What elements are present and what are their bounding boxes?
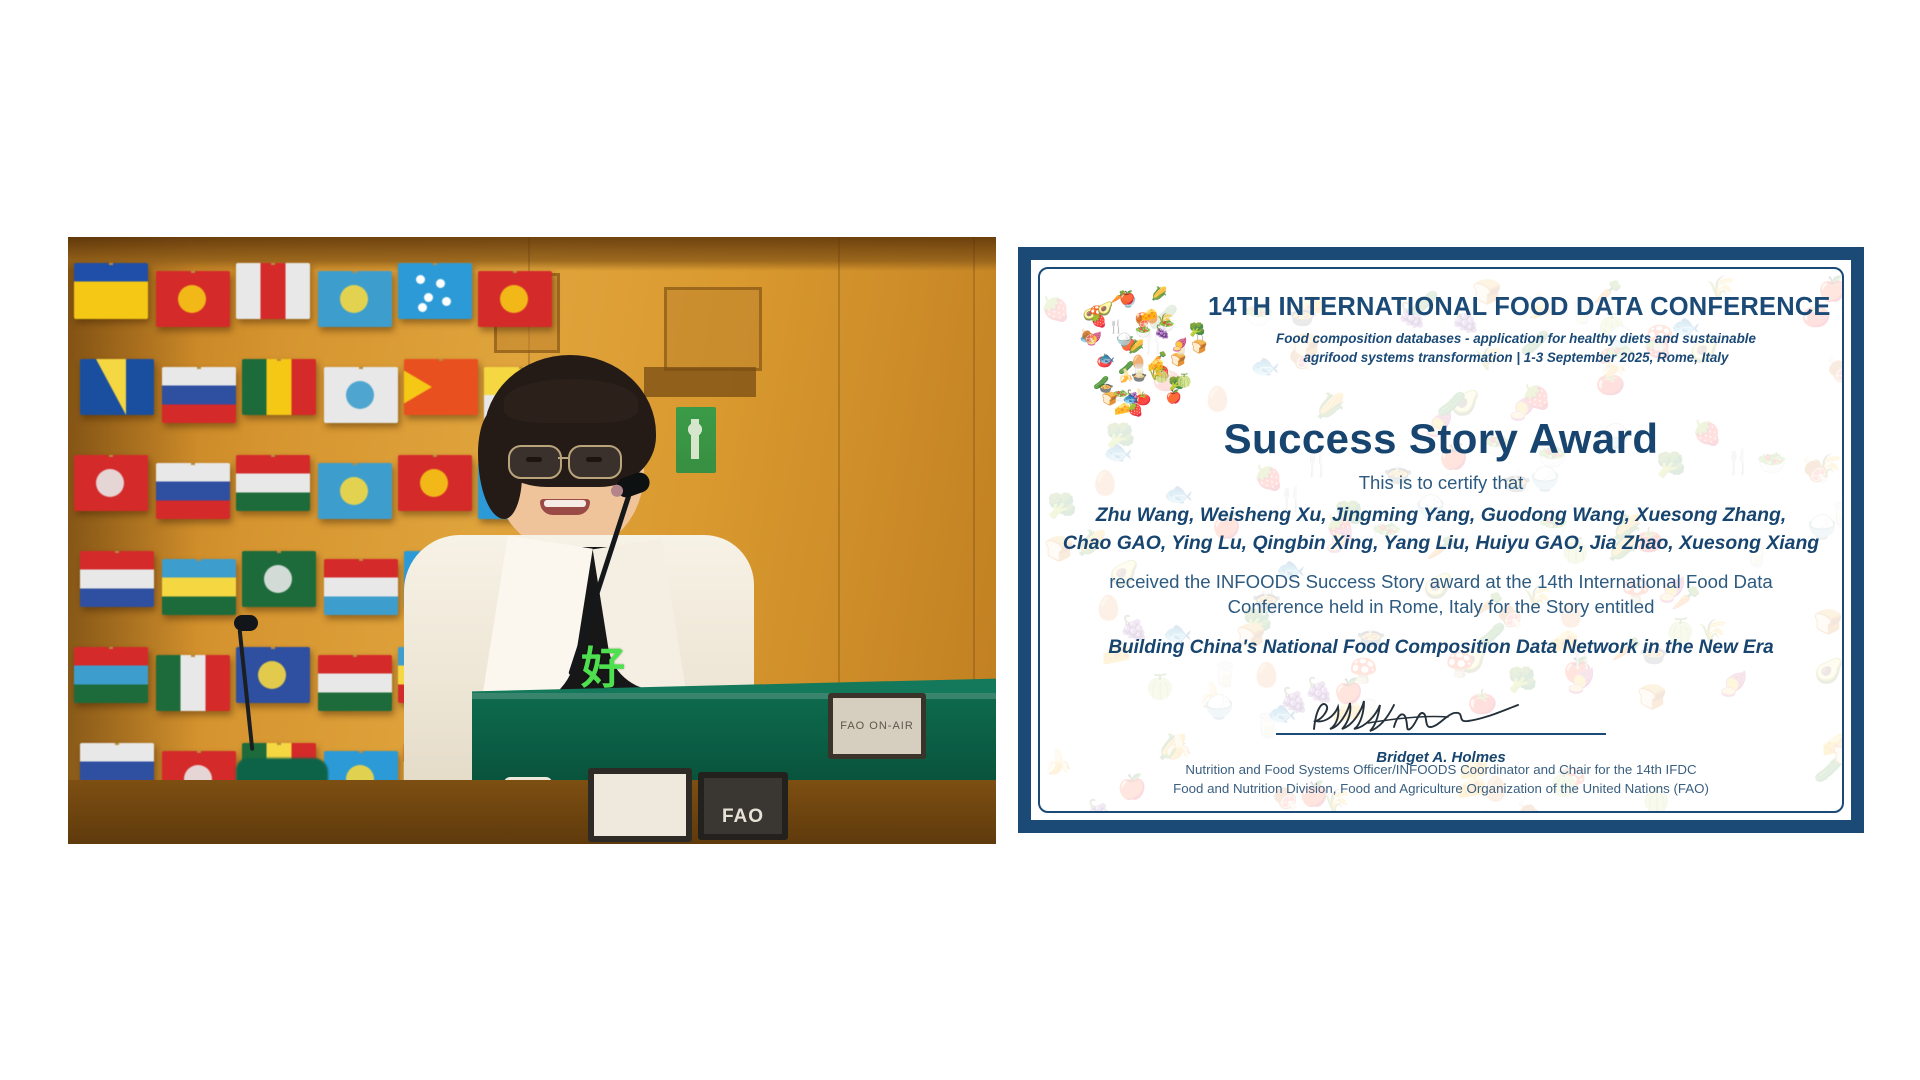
recipient-names-line-1: Zhu Wang, Weisheng Xu, Jingming Yang, Gu… <box>1056 501 1826 529</box>
back-monitor: FAO ON-AIR <box>828 693 926 759</box>
credentials-line-1: Nutrition and Food Systems Officer/INFOO… <box>1068 761 1814 780</box>
conference-photo: 好 FAO ON-AIR FAO <box>68 237 996 844</box>
food-icon: 🥚 <box>1203 385 1233 413</box>
signature-block: Bridget A. Holmes <box>1040 697 1842 766</box>
food-icon: 🍖 <box>1080 329 1096 344</box>
food-icon: 🥑 <box>1450 389 1480 417</box>
nameplate-label: FAO <box>704 806 782 828</box>
food-icon: 🍓 <box>1091 314 1107 329</box>
desk-screen <box>588 768 692 842</box>
food-icon: 🍌 <box>1607 810 1637 813</box>
food-icon: 🥛 <box>1828 501 1844 529</box>
flag-tile <box>162 559 236 615</box>
food-icon: 🍠 <box>1172 338 1188 353</box>
food-icon: 🍄 <box>1349 657 1379 685</box>
food-icon: 🐟 <box>1123 392 1139 407</box>
back-monitor-label: FAO ON-AIR <box>833 698 921 754</box>
conference-subtitle: Food composition databases - application… <box>1208 329 1824 368</box>
credentials-line-2: Food and Nutrition Division, Food and Ag… <box>1068 780 1814 799</box>
food-icon: 🍎 <box>1119 291 1135 306</box>
story-title: Building China's National Food Compositi… <box>1056 637 1826 659</box>
conference-title-block: 14TH INTERNATIONAL FOOD DATA CONFERENCE … <box>1208 293 1824 368</box>
mouth <box>540 499 590 515</box>
flag-tile <box>156 655 230 711</box>
certificate-inner-frame: 🍎🍓🥗🍞🧀🐟🥕🍄🌽🍌🥛🍇🍲🍴🥦🍅🍠🥒🍚🍖🥚🍈🌾🥑🍎🍓🥗🍞🧀🐟🥕🍄🌽🍌🥛🍇🍲🍴🥦🍅… <box>1038 267 1844 813</box>
conference-subtitle-line-1: Food composition databases - application… <box>1208 329 1824 348</box>
food-icon: 🍓 <box>1522 383 1552 411</box>
foreground-desk <box>68 780 996 844</box>
food-icon: 🌽 <box>1473 810 1503 813</box>
flag-tile <box>324 559 398 615</box>
flag-tile <box>318 271 392 327</box>
flag-tile <box>324 367 398 423</box>
food-icon: 🍠 <box>1566 667 1596 695</box>
food-icon: 🥑 <box>1814 657 1844 685</box>
flag-tile <box>156 463 230 519</box>
fringe <box>504 379 638 423</box>
food-icon: 🧀 <box>1141 308 1157 323</box>
award-certificate: 🍎🍓🥗🍞🧀🐟🥕🍄🌽🍌🥛🍇🍲🍴🥦🍅🍠🥒🍚🍖🥚🍈🌾🥑🍎🍓🥗🍞🧀🐟🥕🍄🌽🍌🥛🍇🍲🍴🥦🍅… <box>1018 247 1864 833</box>
award-body-line-1: received the INFOODS Success Story award… <box>1070 569 1812 594</box>
food-icon: 🍞 <box>1813 608 1843 636</box>
food-icon: 🥦 <box>1508 666 1538 694</box>
conference-subtitle-line-2: agrifood systems transformation | 1-3 Se… <box>1208 348 1824 367</box>
flag-tile <box>74 647 148 703</box>
food-icon: 🥛 <box>1131 364 1147 379</box>
flag-tile <box>318 463 392 519</box>
certify-line: This is to certify that <box>1040 472 1842 494</box>
signature-line <box>1276 733 1606 735</box>
food-icon: 🥦 <box>1189 323 1205 338</box>
flag-tile <box>74 455 148 511</box>
food-icon: 🌾 <box>1148 367 1164 382</box>
conference-title: 14TH INTERNATIONAL FOOD DATA CONFERENCE <box>1208 293 1824 322</box>
recipient-names: Zhu Wang, Weisheng Xu, Jingming Yang, Gu… <box>1056 501 1826 558</box>
handwritten-signature-icon <box>1306 693 1576 737</box>
food-icon: 🥛 <box>1210 661 1240 689</box>
award-body-line-2: Conference held in Rome, Italy for the S… <box>1070 594 1812 619</box>
flag-tile <box>242 359 316 415</box>
certificate-header: 🍎🍓🥗🍞🧀🐟🥕🍄🌽🍌🥛🍇🍲🍴🥦🍅🍠🥒🍚🍖🥚🍈🌾🥑🍎🍓🥗🍞🧀🐟🥕🍄🌽🍌🥛🍇🍲🍴🥦🍅… <box>1040 285 1842 385</box>
flag-tile <box>80 359 154 415</box>
flag-tile <box>74 263 148 319</box>
flag-tile <box>236 263 310 319</box>
food-globe-logo-icon: 🍎🍓🥗🍞🧀🐟🥕🍄🌽🍌🥛🍇🍲🍴🥦🍅🍠🥒🍚🍖🥚🍈🌾🥑🍎🍓🥗🍞🧀🐟🥕🍄🌽🍌🥛🍇🍲🍴🥦🍅… <box>1074 287 1202 415</box>
food-icon: 🥚 <box>1252 661 1282 689</box>
food-icon: 🍇 <box>1085 798 1115 813</box>
microphone-head-icon <box>234 615 258 631</box>
food-icon: 🍚 <box>1116 333 1132 348</box>
flag-tile <box>162 367 236 423</box>
food-icon: 🐟 <box>1099 352 1115 367</box>
food-icon: 🍠 <box>1719 670 1749 698</box>
signature-area <box>1276 697 1606 743</box>
food-icon: 🍎 <box>1563 656 1593 684</box>
award-title: Success Story Award <box>1040 415 1842 463</box>
food-icon: 🍞 <box>1191 340 1207 355</box>
flag-tile <box>318 655 392 711</box>
flag-tile <box>236 455 310 511</box>
food-icon: 🥒 <box>1093 376 1109 391</box>
food-icon: 🥗 <box>1159 319 1175 334</box>
flag-tile <box>242 551 316 607</box>
award-body-text: received the INFOODS Success Story award… <box>1070 569 1812 620</box>
flag-tile <box>156 271 230 327</box>
signatory-credentials: Nutrition and Food Systems Officer/INFOO… <box>1068 761 1814 799</box>
eyeglasses-icon <box>506 445 636 475</box>
food-icon: 🍎 <box>1166 390 1182 405</box>
recipient-names-line-2: Chao GAO, Ying Lu, Qingbin Xing, Yang Li… <box>1056 529 1826 557</box>
flag-tile <box>80 551 154 607</box>
food-icon: 🥒 <box>1437 390 1467 418</box>
food-icon: 🍖 <box>1515 800 1545 813</box>
desk-nameplate: FAO <box>698 772 788 840</box>
food-icon: 🌽 <box>1151 287 1167 302</box>
page-root: 好 FAO ON-AIR FAO 🍎🍓🥗🍞🧀🐟🥕🍄🌽🍌🥛🍇🍲🍴🥦🍅🍠🥒🍚🍖🥚🍈🌾… <box>0 0 1920 1080</box>
food-icon: 🍈 <box>1176 374 1192 389</box>
